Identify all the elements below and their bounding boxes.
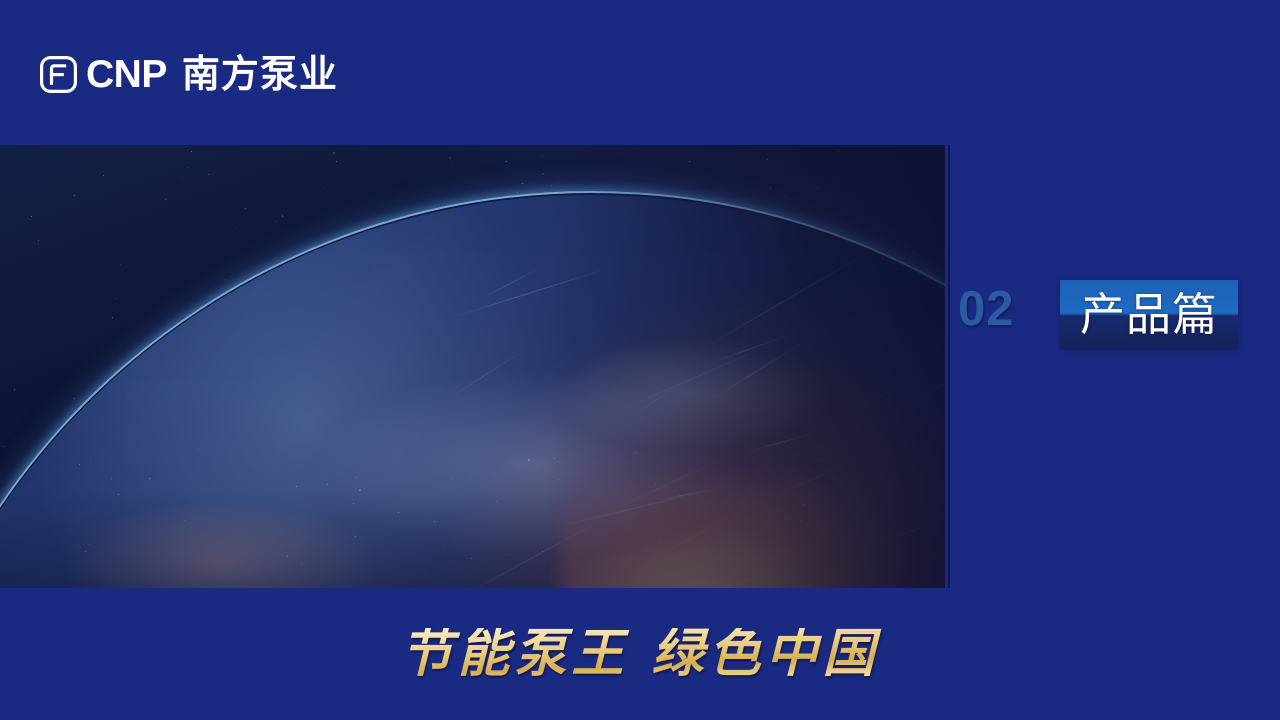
slide-header: CNP 南方泵业 [0,0,1280,145]
brand-logo[interactable]: CNP 南方泵业 [40,52,338,96]
panel-divider [948,145,950,588]
brand-latin-text: CNP [86,55,167,94]
section-title: 产品篇 [1060,280,1238,349]
earth-from-space-photo [0,145,945,588]
footer-slogan: 节能泵王 绿色中国 [0,628,1280,680]
cnp-logo-mark-icon [40,56,77,93]
slide-footer: 节能泵王 绿色中国 [0,588,1280,720]
earth-globe [0,195,945,588]
presentation-slide: CNP 南方泵业 02 产品篇 节能泵王 绿色中国 [0,0,1280,720]
earth-city-lights [0,195,945,588]
section-number: 02 [958,285,1015,334]
brand-chinese-text: 南方泵业 [182,55,338,93]
section-panel: 02 产品篇 [945,145,1280,588]
